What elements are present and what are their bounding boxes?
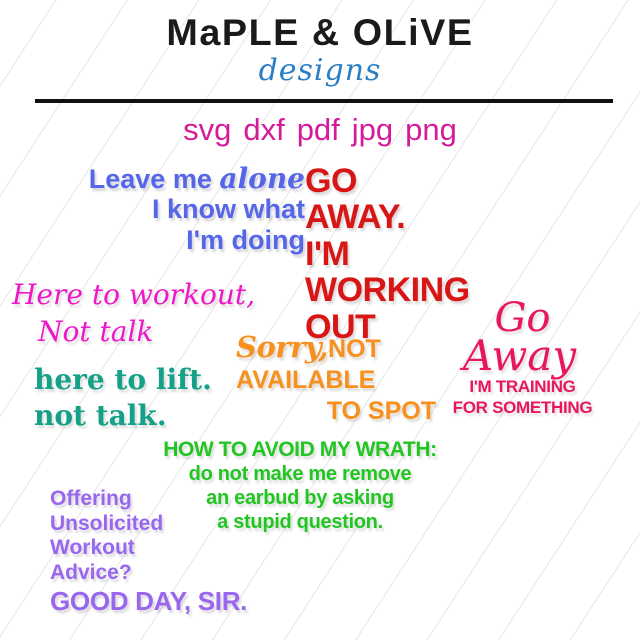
design-6-caps-line-1: I'M TRAINING <box>435 377 610 396</box>
design-1-line-3: I'm doing <box>40 225 305 255</box>
design-6-caps-line-2: FOR SOMETHING <box>435 398 610 417</box>
brand-name-seg-1: M <box>166 12 199 53</box>
design-here-to-workout-not-talk: Here to workout, Not talk <box>12 277 272 351</box>
brand-name: MaPLE & OLiVE <box>0 14 640 51</box>
brand-script-tagline: designs <box>0 54 640 87</box>
design-2-line-3: I'M <box>305 236 470 272</box>
design-1-line-1-script: alone <box>219 162 305 195</box>
design-7-line-1: do not make me remove <box>140 462 460 486</box>
brand-name-seg-4: i <box>408 12 420 53</box>
design-8-line-3: Workout <box>50 536 247 561</box>
design-4-line-1: here to lift. <box>34 362 212 398</box>
design-5-line-2: AVAILABLE <box>236 365 436 396</box>
design-2-line-2: AWAY. <box>305 199 470 235</box>
design-8-line-4: Advice? <box>50 561 247 586</box>
brand-header: MaPLE & OLiVE designs <box>0 14 640 87</box>
format-png: png <box>405 112 457 147</box>
design-sorry-not-available-to-spot: Sorry,NOT AVAILABLE TO SPOT <box>236 330 436 426</box>
design-6-script-line-2: Away <box>429 337 610 376</box>
design-3-line-2: Not talk <box>12 314 272 351</box>
brand-name-seg-3: PLE & OL <box>222 12 408 53</box>
design-8-line-2: Unsolicited <box>50 512 247 537</box>
design-5-line-3: TO SPOT <box>236 396 436 427</box>
design-3-line-1: Here to workout, <box>12 277 272 314</box>
format-dxf: dxf <box>243 112 284 147</box>
header-divider-rule <box>35 99 613 103</box>
design-1-line-2: I know what <box>40 194 305 224</box>
design-4-line-2: not talk. <box>34 398 212 434</box>
design-5-line-1-script: Sorry, <box>236 330 328 364</box>
listing-image-canvas: MaPLE & OLiVE designs svgdxfpdfjpgpng Le… <box>0 0 640 640</box>
file-formats-list: svgdxfpdfjpgpng <box>0 113 640 147</box>
design-unsolicited-workout-advice: Offering Unsolicited Workout Advice? GOO… <box>50 487 247 617</box>
design-5-line-1: Sorry,NOT <box>236 330 436 365</box>
brand-name-seg-2: a <box>199 12 222 53</box>
brand-name-seg-5: VE <box>420 12 473 53</box>
design-1-line-1: Leave me alone <box>40 163 305 194</box>
design-7-header: HOW TO AVOID MY WRATH: <box>140 437 460 462</box>
design-8-line-5: GOOD DAY, SIR. <box>50 586 247 616</box>
format-svg: svg <box>183 112 231 147</box>
design-1-line-1-plain: Leave me <box>89 164 220 194</box>
format-pdf: pdf <box>297 112 340 147</box>
design-2-line-1: GO <box>305 163 470 199</box>
design-go-away-training: Go Away I'M TRAINING FOR SOMETHING <box>435 300 610 417</box>
design-8-line-1: Offering <box>50 487 247 512</box>
design-5-line-1-caps: NOT <box>328 335 381 363</box>
format-jpg: jpg <box>352 112 393 147</box>
design-leave-me-alone: Leave me alone I know what I'm doing <box>40 163 305 255</box>
design-here-to-lift-not-talk: here to lift. not talk. <box>34 362 212 434</box>
